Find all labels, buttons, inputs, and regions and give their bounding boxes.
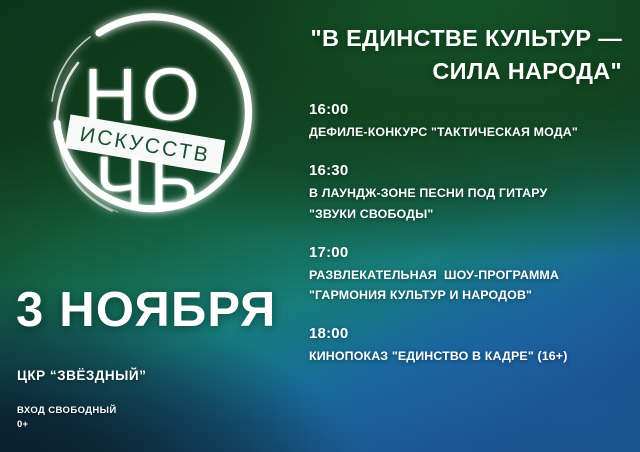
schedule-description: КИНОПОКАЗ "ЕДИНСТВО В КАДРЕ" (16+) (309, 346, 631, 366)
schedule-item: 18:00 КИНОПОКАЗ "ЕДИНСТВО В КАДРЕ" (16+) (309, 324, 631, 366)
venue-name: ЦКР “ЗВЁЗДНЫЙ” (17, 368, 146, 383)
schedule-description: В ЛАУНДЖ-ЗОНЕ ПЕСНИ ПОД ГИТАРУ (309, 183, 631, 203)
schedule-time: 16:30 (309, 161, 631, 180)
headline-line-1: "В ЕДИНСТВЕ КУЛЬТУР — (224, 22, 622, 55)
schedule-time: 16:00 (309, 100, 631, 119)
schedule-item: 16:30 В ЛАУНДЖ-ЗОНЕ ПЕСНИ ПОД ГИТАРУ "ЗВ… (309, 161, 631, 223)
schedule-item: 17:00 РАЗВЛЕКАТЕЛЬНАЯ ШОУ-ПРОГРАММА "ГАР… (309, 243, 631, 305)
schedule-list: 16:00 ДЕФИЛЕ-КОНКУРС "ТАКТИЧЕСКАЯ МОДА" … (309, 100, 631, 366)
event-poster: НО ЧЬ ИСКУССТВ "В ЕДИНСТВЕ КУЛЬТУР — СИЛ… (0, 0, 640, 452)
poster-headline: "В ЕДИНСТВЕ КУЛЬТУР — СИЛА НАРОДА" (224, 22, 622, 89)
event-date: 3 НОЯБРЯ (16, 286, 276, 335)
schedule-time: 18:00 (309, 324, 631, 343)
schedule-time: 17:00 (309, 243, 631, 262)
headline-line-2: СИЛА НАРОДА" (224, 55, 622, 88)
entry-info: ВХОД СВОБОДНЫЙ 0+ (17, 404, 117, 433)
schedule-description: "ЗВУКИ СВОБОДЫ" (309, 204, 631, 224)
schedule-description: ДЕФИЛЕ-КОНКУРС "ТАКТИЧЕСКАЯ МОДА" (309, 122, 631, 142)
admission-label: ВХОД СВОБОДНЫЙ (17, 404, 117, 418)
schedule-description: РАЗВЛЕКАТЕЛЬНАЯ ШОУ-ПРОГРАММА (309, 265, 631, 285)
schedule-description: "ГАРМОНИЯ КУЛЬТУР И НАРОДОВ" (309, 285, 631, 305)
age-rating-badge: 0+ (17, 418, 117, 432)
schedule-item: 16:00 ДЕФИЛЕ-КОНКУРС "ТАКТИЧЕСКАЯ МОДА" (309, 100, 631, 142)
